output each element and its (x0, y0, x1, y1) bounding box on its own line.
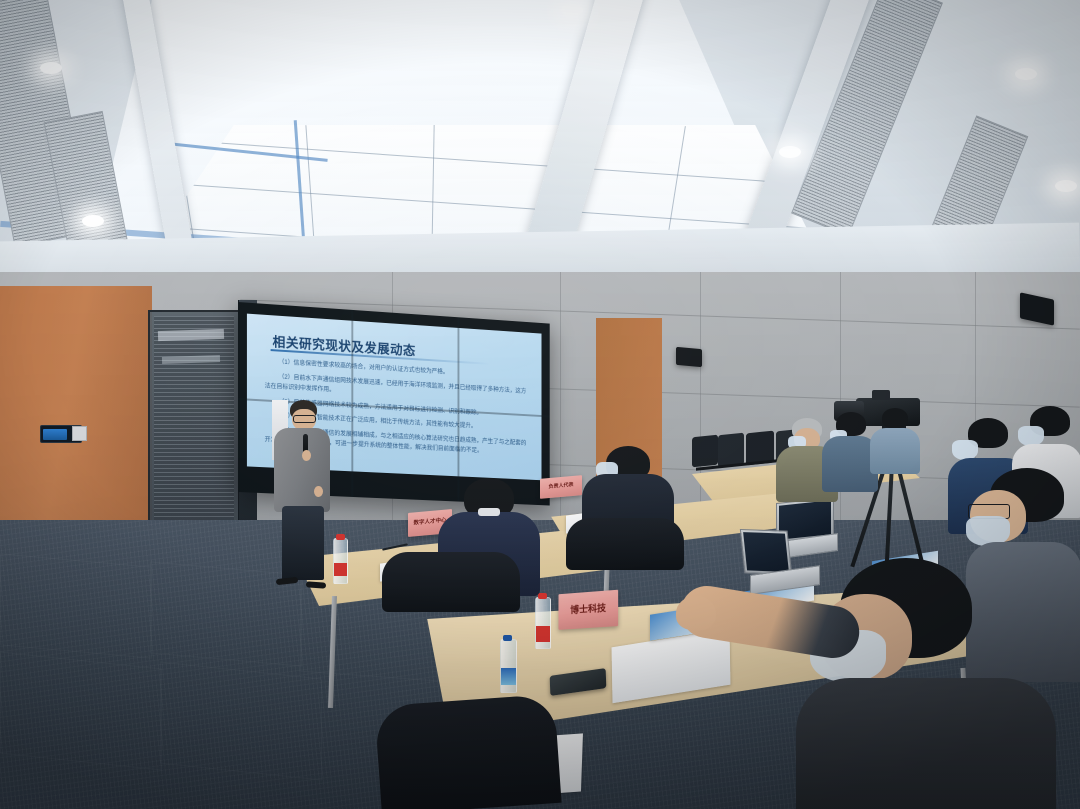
bottle-cap (336, 534, 345, 540)
wall-speaker-icon (676, 347, 702, 367)
presenter (272, 400, 334, 596)
camera-viewfinder-icon (872, 390, 890, 400)
downlight-icon (561, 4, 583, 16)
ceiling (0, 0, 1080, 300)
glasses-icon (293, 415, 316, 423)
downlight-icon (82, 215, 104, 227)
attendee-jacket (796, 678, 1056, 809)
bottle-label (334, 563, 347, 576)
bottle-label (536, 626, 550, 642)
water-bottle (500, 639, 517, 693)
presenter-jacket (274, 428, 330, 512)
presenter-shoe (306, 581, 326, 588)
attendee-hand (676, 596, 716, 630)
laptop-screen (740, 529, 792, 575)
presenter-shoe (276, 577, 299, 585)
name-card-label: 负责人代表 (548, 483, 573, 490)
attendee (796, 558, 1056, 809)
glass-door[interactable] (148, 310, 240, 530)
water-bottle (333, 538, 348, 584)
wall-switch-plate[interactable] (72, 426, 87, 441)
office-chair[interactable] (382, 552, 520, 612)
bottle-label (501, 668, 516, 685)
name-card-label: 博士科技 (570, 604, 606, 616)
office-chair[interactable] (566, 518, 684, 570)
presenter-hand (314, 486, 323, 497)
attendee (870, 408, 922, 472)
downlight-icon (40, 62, 62, 74)
attendee-hair (882, 408, 908, 428)
wood-wall-panel-left (0, 286, 152, 536)
name-card: 负责人代表 (540, 475, 582, 499)
presenter-hand (302, 450, 311, 461)
name-card: 博士科技 (558, 590, 618, 630)
control-panel-screen[interactable] (43, 429, 67, 440)
bottle-cap (503, 635, 512, 641)
attendee-shoulder (374, 694, 561, 809)
face-mask-icon (1018, 426, 1044, 446)
downlight-icon (1055, 180, 1077, 192)
conference-room-photo: 相关研究现状及发展动态 （1）信息保密性要求较高的场合，对用户的认证方式也较为严… (0, 0, 1080, 809)
presenter-trousers (282, 506, 324, 580)
downlight-icon (779, 146, 801, 158)
face-mask-icon (952, 440, 978, 460)
attendee-jacket (870, 428, 920, 474)
downlight-icon (1015, 68, 1037, 80)
door-blinds (154, 316, 234, 524)
